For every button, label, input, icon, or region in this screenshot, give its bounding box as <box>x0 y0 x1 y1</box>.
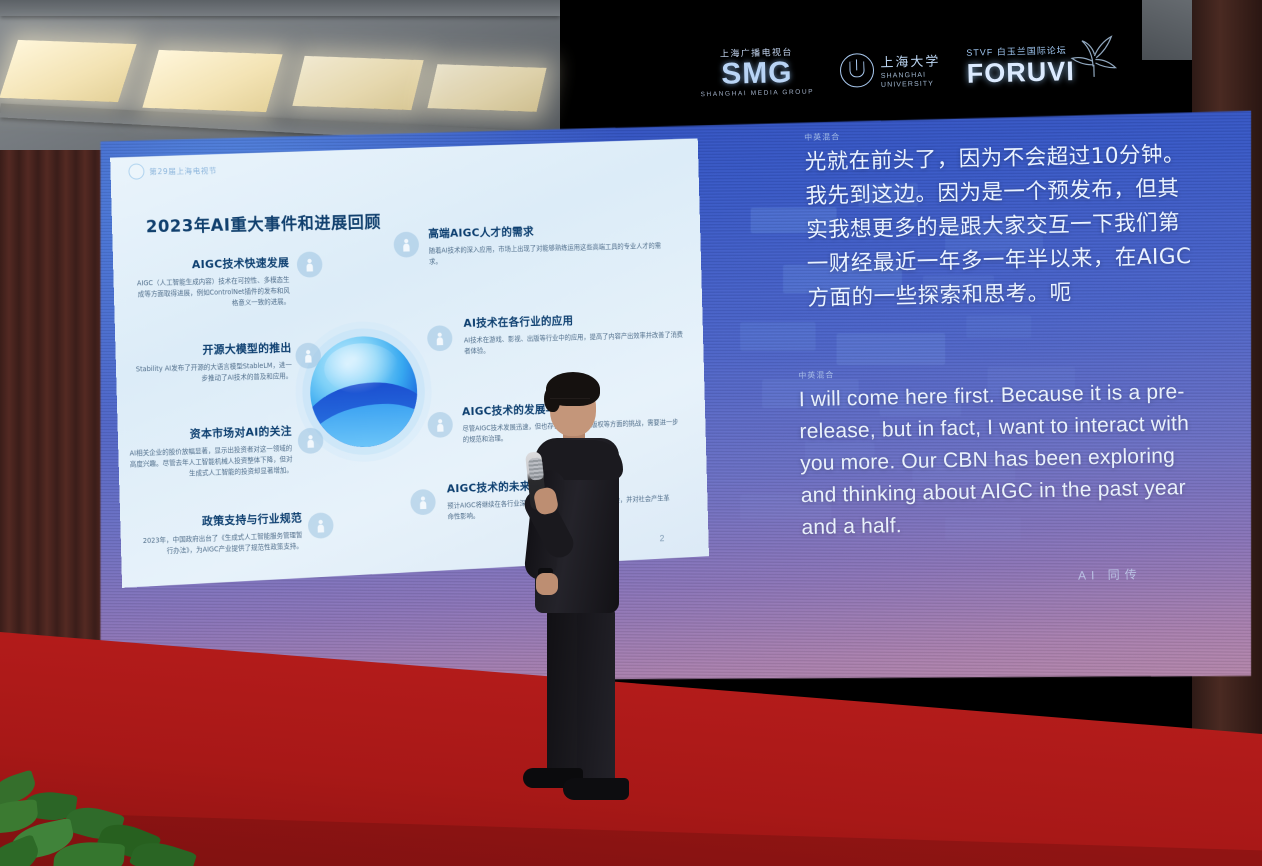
person-icon <box>297 251 323 277</box>
bullet-body: AI相关企业的股价放幅显著，显示出投资者对这一领域的高度兴趣。尽管去年人工智能机… <box>124 443 293 481</box>
bullet-heading: AI技术在各行业的应用 <box>463 309 686 330</box>
speaker-person <box>505 370 645 820</box>
speaker-right-shoe <box>563 778 629 800</box>
slide-title: 2023年AI重大事件和进展回顾 <box>146 209 382 238</box>
logo-foruvi-forum: STVF 白玉兰国际论坛 FORUVI <box>966 43 1075 90</box>
chinese-subtitle-text: 光就在前头了，因为不会超过10分钟。我先到这边。因为是一个预发布，但其实我想更多… <box>804 138 1197 316</box>
bullet-heading: 政策支持与行业规范 <box>138 509 302 531</box>
conference-stage-scene: 上海广播电视台 SMG SHANGHAI MEDIA GROUP 上海大学 SH… <box>0 0 1262 866</box>
bullet-body: AIGC（人工智能生成内容）技术在可控性、多模态生成等方面取得进展，例如Cont… <box>131 275 290 311</box>
ai-interpretation-credit: AI 同传 <box>1078 565 1142 583</box>
bullet-heading: AIGC技术快速发展 <box>131 254 289 273</box>
bullet-body: 2023年，中国政府出台了《生成式人工智能服务管理暂行办法》，为AIGC产业提供… <box>139 530 303 558</box>
person-icon <box>308 512 334 539</box>
person-icon <box>298 428 324 455</box>
slide-bullet-left-3: 资本市场对AI的关注 AI相关企业的股价放幅显著，显示出投资者对这一领域的高度兴… <box>124 423 293 482</box>
forum-name: FORUVI <box>966 56 1075 90</box>
shanghai-university-emblem-icon <box>839 53 874 88</box>
decorative-plants <box>0 758 280 866</box>
ceiling-panel-light <box>142 50 282 112</box>
speaker-second-hand <box>536 573 558 595</box>
slide-page-number: 2 <box>660 533 665 543</box>
sponsor-logo-bar: 上海广播电视台 SMG SHANGHAI MEDIA GROUP 上海大学 SH… <box>699 23 1131 115</box>
bullet-heading: 高端AIGC人才的需求 <box>428 221 661 242</box>
smg-abbr: SMG <box>700 57 814 91</box>
bullet-body: 随着AI技术的深入应用，市场上出现了对能够熟练运用这些高端工具的专业人才的需求。 <box>429 241 662 267</box>
slide-bullet-left-1: AIGC技术快速发展 AIGC（人工智能生成内容）技术在可控性、多模态生成等方面… <box>131 254 290 311</box>
person-icon <box>427 325 453 351</box>
smg-english-name: SHANGHAI MEDIA GROUP <box>700 89 814 99</box>
bullet-body: Stability AI发布了开源的大语言模型StableLM，进一步推动了AI… <box>130 360 292 386</box>
logo-shanghai-university: 上海大学 SHANGHAI UNIVERSITY <box>839 50 941 89</box>
speaker-glasses-icon <box>550 398 590 407</box>
slide-bullet-right-1: 高端AIGC人才的需求 随着AI技术的深入应用，市场上出现了对能够熟练运用这些高… <box>428 221 662 268</box>
bullet-heading: 资本市场对AI的关注 <box>124 423 292 444</box>
slide-logo-mark-icon <box>128 163 144 179</box>
english-subtitle-text: I will come here first. Because it is a … <box>799 376 1202 544</box>
bullet-body: AI技术在游戏、影视、出版等行业中的应用，提高了内容产出效率并改善了消费者体验。 <box>464 330 687 357</box>
ceiling-panel-light <box>292 56 423 110</box>
person-icon <box>427 412 453 438</box>
ceiling-panel-light <box>0 40 137 102</box>
microphone-grille-icon <box>528 457 544 480</box>
magnolia-flower-icon <box>1066 26 1119 79</box>
bullet-heading: 开源大模型的推出 <box>129 339 291 359</box>
ceiling-beam <box>0 0 560 16</box>
slide-logo-text: 第29届上海电视节 <box>149 165 217 177</box>
shu-chinese-name: 上海大学 <box>880 50 940 70</box>
slide-bullet-right-2: AI技术在各行业的应用 AI技术在游戏、影视、出版等行业中的应用，提高了内容产出… <box>463 309 686 357</box>
shu-english-line2: UNIVERSITY <box>881 80 941 88</box>
person-icon <box>410 489 436 515</box>
slide-bullet-left-2: 开源大模型的推出 Stability AI发布了开源的大语言模型StableLM… <box>129 339 292 386</box>
slide-bullet-left-4: 政策支持与行业规范 2023年，中国政府出台了《生成式人工智能服务管理暂行办法》… <box>138 509 303 558</box>
speaker-right-leg <box>577 606 615 784</box>
shu-english-line1: SHANGHAI <box>881 71 941 79</box>
chinese-subtitle-block: 中英混合 光就在前头了，因为不会超过10分钟。我先到这边。因为是一个预发布，但其… <box>804 124 1198 316</box>
ceiling-panel-light <box>427 64 546 112</box>
slide-corner-logo: 第29届上海电视节 <box>128 162 217 180</box>
logo-smg: 上海广播电视台 SMG SHANGHAI MEDIA GROUP <box>699 47 814 99</box>
person-icon <box>393 232 419 258</box>
slide-center-orb-graphic <box>309 335 419 449</box>
english-subtitle-block: 中英混合 I will come here first. Because it … <box>798 362 1202 544</box>
